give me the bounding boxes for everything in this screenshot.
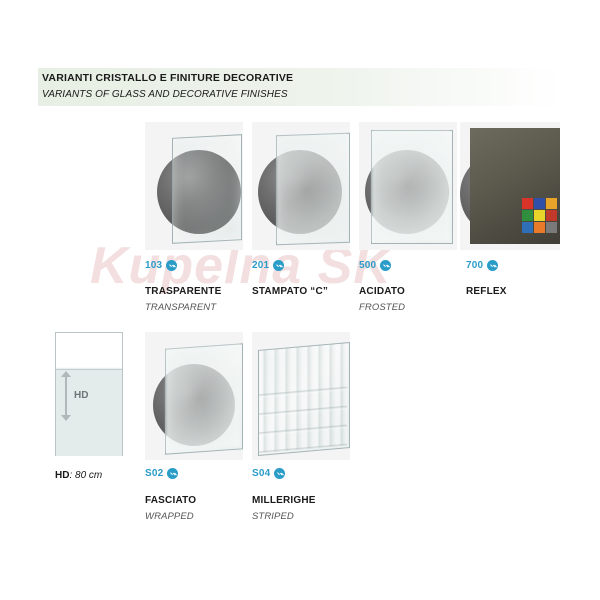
swatch-image-reflex [460, 122, 560, 250]
horizontal-rib-overlay [259, 372, 347, 454]
swatch-image-fasciato [145, 332, 243, 460]
hd-dimension-arrow [61, 372, 72, 420]
swatch-code: S02 [145, 468, 163, 479]
frosted-overlay [372, 131, 450, 241]
swatch-image-acidato [359, 122, 457, 250]
check-icon [273, 260, 284, 271]
swatch-name-en-s04: STRIPED [252, 511, 294, 522]
hd-inner-label: HD [74, 390, 88, 401]
swatch-name-en-103: TRANSPARENT [145, 302, 216, 313]
swatch-name-it-500: ACIDATO [359, 286, 405, 297]
hd-caption-value: : 80 cm [69, 470, 102, 481]
swatch-code: 201 [252, 260, 269, 271]
check-icon [166, 260, 177, 271]
check-icon [487, 260, 498, 271]
check-icon [274, 468, 285, 479]
swatch-name-it-s02: FASCIATO [145, 495, 196, 506]
swatch-code: S04 [252, 468, 270, 479]
swatch-code-row-500: 500 [359, 260, 391, 271]
swatch-image-trasparente [145, 122, 243, 250]
color-sample-grid [522, 198, 557, 233]
swatch-code: 500 [359, 260, 376, 271]
swatch-code-row-103: 103 [145, 260, 177, 271]
swatch-name-en-s02: WRAPPED [145, 511, 194, 522]
page-title: VARIANTI CRISTALLO E FINITURE DECORATIVE [42, 72, 293, 84]
swatch-code: 700 [466, 260, 483, 271]
check-icon [167, 468, 178, 479]
swatch-name-it-700: REFLEX [466, 286, 507, 297]
swatch-code-row-700: 700 [466, 260, 498, 271]
swatch-name-it-s04: MILLERIGHE [252, 495, 316, 506]
swatch-code-row-201: 201 [252, 260, 284, 271]
swatch-code-row-s04: S04 [252, 468, 285, 479]
swatch-image-stampato-c [252, 122, 350, 250]
glass-sheet [172, 134, 242, 244]
textured-overlay [277, 134, 347, 242]
swatch-name-it-201: STAMPATO “C” [252, 286, 328, 297]
swatch-image-millerighe [252, 332, 350, 460]
swatch-code-row-s02: S02 [145, 468, 178, 479]
page-subtitle: VARIANTS OF GLASS AND DECORATIVE FINISHE… [42, 89, 288, 100]
hd-caption-label: HD [55, 470, 69, 481]
check-icon [380, 260, 391, 271]
hd-caption: HD: 80 cm [55, 470, 102, 481]
swatch-name-it-103: TRASPARENTE [145, 286, 221, 297]
swatch-code: 103 [145, 260, 162, 271]
wrapped-overlay [166, 344, 240, 451]
swatch-name-en-500: FROSTED [359, 302, 405, 313]
